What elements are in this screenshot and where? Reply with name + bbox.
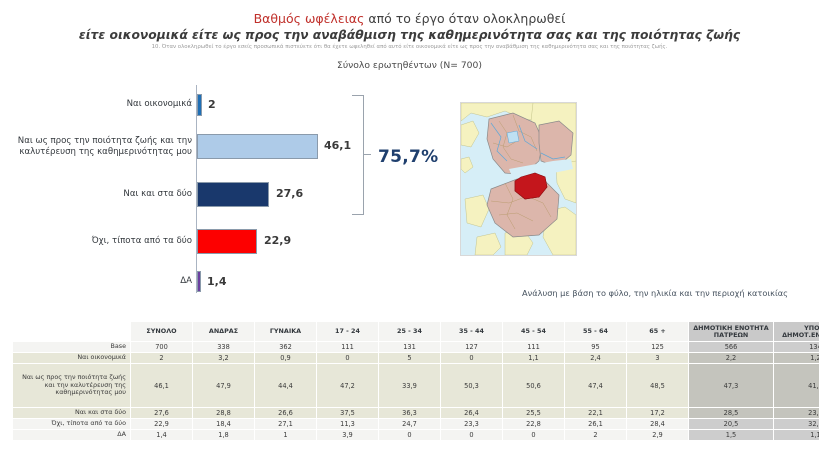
cell: 125	[627, 342, 689, 353]
cell: 47,4	[565, 364, 627, 408]
page-title-highlight: Βαθμός ωφέλειας	[254, 11, 365, 26]
bar-segment	[197, 229, 257, 254]
cell: 47,9	[193, 364, 255, 408]
bar-value: 22,9	[264, 234, 291, 247]
bar-segment	[197, 182, 269, 207]
cell: 2,9	[627, 430, 689, 441]
table-row: Όχι, τίποτα από τα δύο 22,9 18,4 27,1 11…	[13, 419, 819, 430]
cell: 37,5	[317, 408, 379, 419]
cell: 338	[193, 342, 255, 353]
cell: 362	[255, 342, 317, 353]
bar-row: Ναι οικονομικά 2	[0, 88, 460, 122]
cell: 33,9	[379, 364, 441, 408]
col-header-17-24: 17 - 24	[317, 322, 379, 342]
summary-percentage: 75,7%	[378, 147, 438, 167]
cell: 95	[565, 342, 627, 353]
cell: 32,8	[774, 419, 819, 430]
cell: 28,8	[193, 408, 255, 419]
bar-label: ΔΑ	[7, 276, 192, 287]
page-subtitle: είτε οικονομικά είτε ως προς την αναβάθμ…	[0, 28, 819, 42]
bar-segment	[197, 134, 318, 159]
cell: 0	[317, 353, 379, 364]
map-svg	[461, 103, 576, 255]
cell: 1,1	[503, 353, 565, 364]
table-corner-cell	[13, 322, 131, 342]
table-row: Ναι ως προς την ποιότητα ζωής και την κα…	[13, 364, 819, 408]
cell: 47,2	[317, 364, 379, 408]
cell: 566	[689, 342, 774, 353]
cell: 0	[503, 430, 565, 441]
map-caption: Ανάλυση με βάση το φύλο, την ηλικία και …	[500, 288, 810, 298]
cell: 3,2	[193, 353, 255, 364]
bar-value: 27,6	[276, 187, 303, 200]
table-header-row: ΣΥΝΟΛΟ ΑΝΔΡΑΣ ΓΥΝΑΙΚΑ 17 - 24 25 - 34 35…	[13, 322, 819, 342]
row-label: Ναι και στα δύο	[13, 408, 131, 419]
cell: 23,8	[774, 408, 819, 419]
cell: 27,6	[131, 408, 193, 419]
cell: 1,1	[774, 430, 819, 441]
cell: 11,3	[317, 419, 379, 430]
cell: 26,1	[565, 419, 627, 430]
bar-label: Ναι οικονομικά	[7, 99, 192, 110]
table-row: ΔΑ 1,4 1,8 1 3,9 0 0 0 2 2,9 1,5 1,1	[13, 430, 819, 441]
row-label: ΔΑ	[13, 430, 131, 441]
cell: 1,4	[131, 430, 193, 441]
cell: 44,4	[255, 364, 317, 408]
cell: 24,7	[379, 419, 441, 430]
bar-label: Όχι, τίποτα από τα δύο	[7, 236, 192, 247]
bar-label: Ναι και στα δύο	[7, 189, 192, 200]
cell: 700	[131, 342, 193, 353]
cell: 111	[317, 342, 379, 353]
col-header-dimotiki-enotita-patreon: ΔΗΜΟΤΙΚΗ ΕΝΟΤΗΤΑ ΠΑΤΡΕΩΝ	[689, 322, 774, 342]
cell: 0	[441, 353, 503, 364]
cell: 46,1	[131, 364, 193, 408]
table-row: Ναι οικονομικά 2 3,2 0,9 0 5 0 1,1 2,4 3…	[13, 353, 819, 364]
col-header-45-54: 45 - 54	[503, 322, 565, 342]
cell: 131	[379, 342, 441, 353]
bar-row: Ναι και στα δύο 27,6	[0, 178, 460, 212]
cell: 134	[774, 342, 819, 353]
cell: 1	[255, 430, 317, 441]
col-header-35-44: 35 - 44	[441, 322, 503, 342]
bar-value: 46,1	[324, 139, 351, 152]
cell: 50,6	[503, 364, 565, 408]
cell: 48,5	[627, 364, 689, 408]
col-header-65plus: 65 +	[627, 322, 689, 342]
col-header-andras: ΑΝΔΡΑΣ	[193, 322, 255, 342]
cell: 27,1	[255, 419, 317, 430]
cell: 2	[131, 353, 193, 364]
page-title: Βαθμός ωφέλειας από το έργο όταν ολοκληρ…	[0, 11, 819, 26]
row-label: Όχι, τίποτα από τα δύο	[13, 419, 131, 430]
bar-segment	[197, 271, 201, 292]
cell: 50,3	[441, 364, 503, 408]
col-header-55-64: 55 - 64	[565, 322, 627, 342]
table-row: Ναι και στα δύο 27,6 28,8 26,6 37,5 36,3…	[13, 408, 819, 419]
bracket-mid-arm	[364, 154, 371, 155]
cell: 111	[503, 342, 565, 353]
col-header-25-34: 25 - 34	[379, 322, 441, 342]
cell: 28,5	[689, 408, 774, 419]
slide-root: Βαθμός ωφέλειας από το έργο όταν ολοκληρ…	[0, 0, 819, 460]
cell: 22,9	[131, 419, 193, 430]
page-title-rest: από το έργο όταν ολοκληρωθεί	[364, 11, 565, 26]
cell: 41,1	[774, 364, 819, 408]
cell: 18,4	[193, 419, 255, 430]
row-label: Ναι ως προς την ποιότητα ζωής και την κα…	[13, 364, 131, 408]
cell: 1,2	[774, 353, 819, 364]
summary-bracket	[352, 95, 366, 215]
bar-row: ΔΑ 1,4	[0, 268, 460, 298]
cell: 0	[379, 430, 441, 441]
col-header-gynaika: ΓΥΝΑΙΚΑ	[255, 322, 317, 342]
bar-value: 2	[208, 98, 216, 111]
cell: 2	[565, 430, 627, 441]
cell: 5	[379, 353, 441, 364]
row-label: Ναι οικονομικά	[13, 353, 131, 364]
cell: 2,2	[689, 353, 774, 364]
cell: 36,3	[379, 408, 441, 419]
cell: 25,5	[503, 408, 565, 419]
bracket-bottom-arm	[352, 214, 364, 215]
cell: 3	[627, 353, 689, 364]
bracket-top-arm	[352, 95, 364, 96]
cell: 26,6	[255, 408, 317, 419]
cell: 17,2	[627, 408, 689, 419]
bar-label: Ναι ως προς την ποιότητα ζωής και την κα…	[7, 136, 192, 158]
cell: 0,9	[255, 353, 317, 364]
data-table: ΣΥΝΟΛΟ ΑΝΔΡΑΣ ΓΥΝΑΙΚΑ 17 - 24 25 - 34 35…	[12, 321, 819, 441]
cell: 23,3	[441, 419, 503, 430]
question-text: 10. Όταν ολοκληρωθεί το έργο εσείς προσω…	[0, 44, 819, 50]
bar-segment	[197, 94, 202, 116]
cell: 26,4	[441, 408, 503, 419]
cell: 28,4	[627, 419, 689, 430]
cell: 127	[441, 342, 503, 353]
bar-row: Όχι, τίποτα από τα δύο 22,9	[0, 225, 460, 259]
cell: 2,4	[565, 353, 627, 364]
bar-value: 1,4	[207, 275, 227, 288]
bar-chart: Ναι οικονομικά 2 Ναι ως προς την ποιότητ…	[0, 80, 460, 295]
cell: 1,5	[689, 430, 774, 441]
cell: 0	[441, 430, 503, 441]
region-map	[460, 102, 577, 256]
base-line: Σύνολο ερωτηθέντων (Ν= 700)	[0, 60, 819, 71]
cell: 47,3	[689, 364, 774, 408]
cell: 22,8	[503, 419, 565, 430]
cell: 22,1	[565, 408, 627, 419]
cell: 1,8	[193, 430, 255, 441]
row-label: Base	[13, 342, 131, 353]
cell: 20,5	[689, 419, 774, 430]
col-header-synolo: ΣΥΝΟΛΟ	[131, 322, 193, 342]
cell: 3,9	[317, 430, 379, 441]
col-header-ypol-dimot-enotites: ΥΠΟΛ. ΔΗΜΟΤ.ΕΝΟΤΗΤΕΣ	[774, 322, 819, 342]
table-row: Base 700 338 362 111 131 127 111 95 125 …	[13, 342, 819, 353]
